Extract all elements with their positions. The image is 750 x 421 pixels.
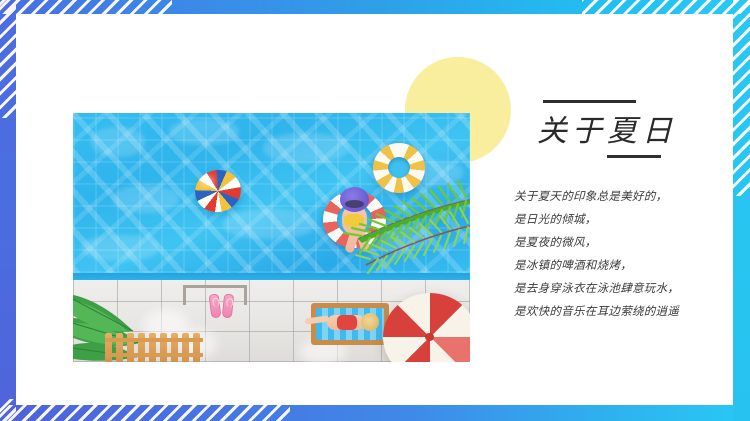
page-title: 关于夏日 bbox=[505, 113, 705, 151]
title-rule-top bbox=[543, 100, 636, 103]
stripe-pattern-left-lower bbox=[0, 399, 16, 421]
summer-pool-illustration bbox=[73, 113, 470, 362]
body-paragraph: 关于夏天的印象总是美好的， 是日光的倾城， 是夏夜的微风， 是冰镇的啤酒和烧烤，… bbox=[505, 186, 705, 324]
slide-root: 关于夏日 关于夏天的印象总是美好的， 是日光的倾城， 是夏夜的微风， 是冰镇的啤… bbox=[0, 0, 750, 421]
title-rule-bottom bbox=[607, 155, 661, 158]
flip-flop-rack-post-left bbox=[183, 285, 186, 305]
stripe-pattern-right-upper bbox=[733, 0, 750, 196]
stripe-pattern-left-upper bbox=[0, 0, 16, 118]
body-line: 是夏夜的微风， bbox=[514, 232, 705, 255]
flip-flop-rack-post-right bbox=[244, 285, 247, 305]
sunbather-straw-hat bbox=[361, 313, 379, 331]
frame-band-right bbox=[733, 0, 750, 421]
stripe-pattern-bottom-left bbox=[0, 405, 290, 421]
frame-notch-bottom-right bbox=[723, 395, 733, 405]
palm-fronds-icon bbox=[296, 173, 470, 278]
body-line: 是冰镇的啤酒和烧烤， bbox=[514, 255, 705, 278]
sunbather-red-swimsuit bbox=[337, 315, 357, 330]
frame-band-top bbox=[0, 0, 750, 14]
body-line: 关于夏天的印象总是美好的， bbox=[514, 186, 705, 209]
stripe-pattern-top-right bbox=[582, 0, 750, 14]
frame-band-left bbox=[0, 0, 16, 421]
body-line: 是欢快的音乐在耳边萦绕的逍遥 bbox=[514, 301, 705, 324]
lounge-chair bbox=[311, 303, 389, 345]
frame-band-bottom bbox=[0, 405, 750, 421]
body-line: 是去身穿泳衣在泳池肆意玩水， bbox=[514, 278, 705, 301]
body-line: 是日光的倾城， bbox=[514, 209, 705, 232]
wooden-fence bbox=[105, 333, 203, 362]
flip-flop-rack-bar bbox=[183, 285, 247, 288]
stripe-pattern-top-left bbox=[0, 0, 172, 14]
text-panel: 关于夏日 关于夏天的印象总是美好的， 是日光的倾城， 是夏夜的微风， 是冰镇的啤… bbox=[505, 100, 705, 324]
